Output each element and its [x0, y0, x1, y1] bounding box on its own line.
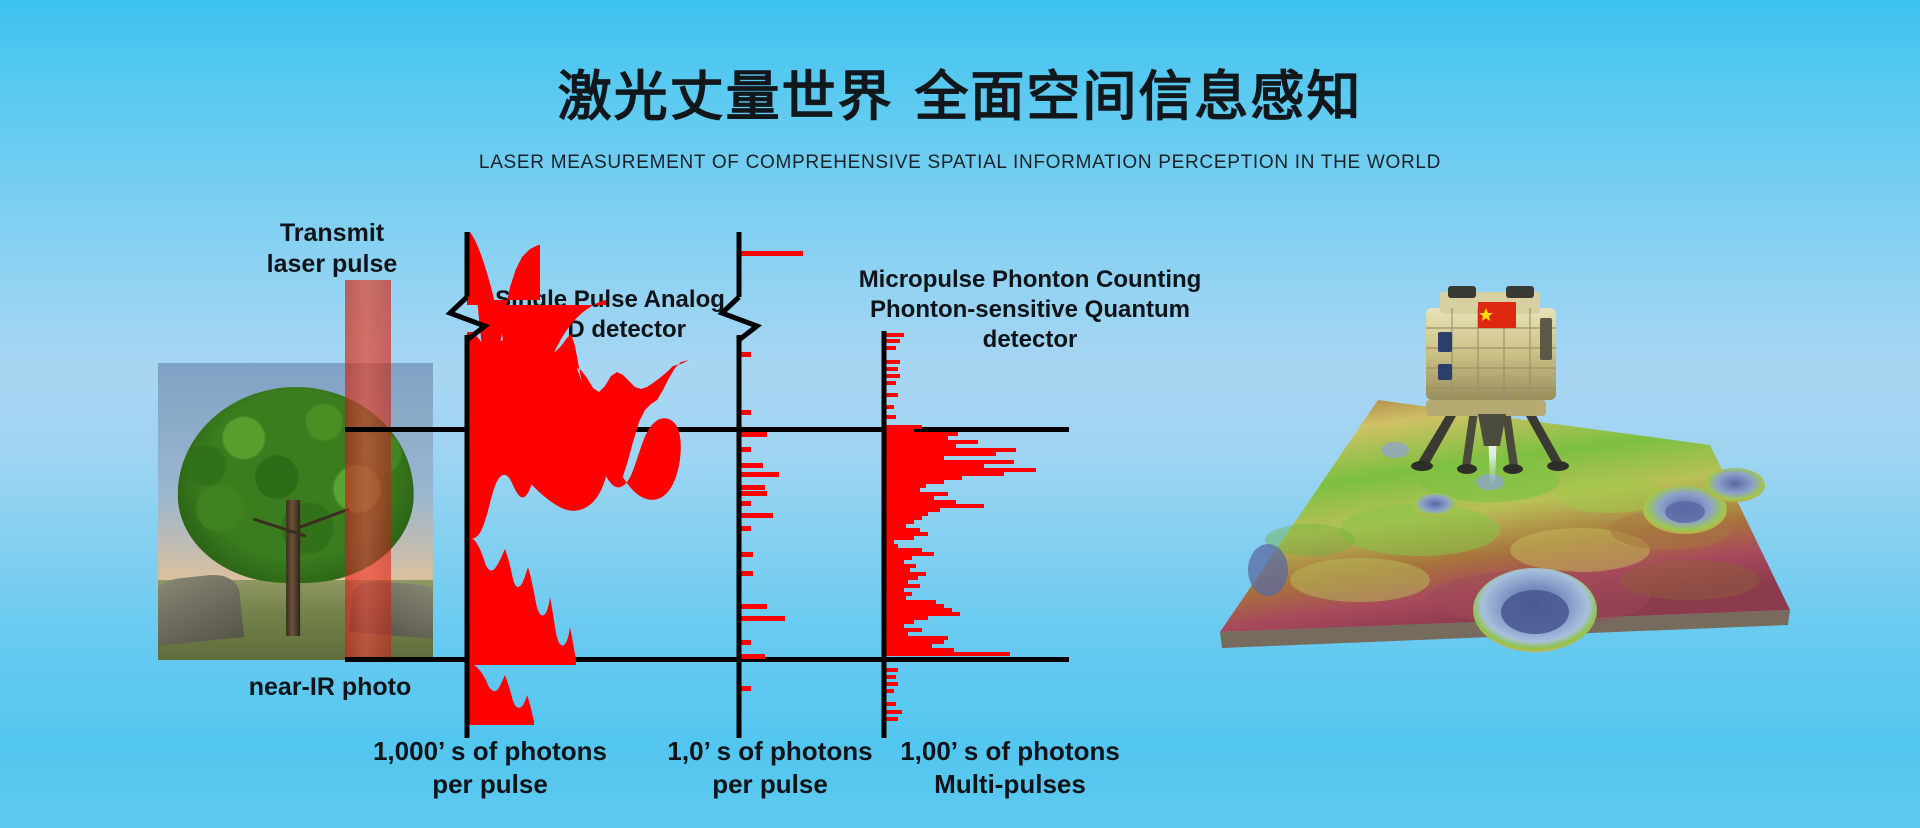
dem-crater-mid: [1413, 493, 1457, 517]
lunar-lander: [1411, 286, 1569, 474]
lunar-dem-illustration: [1190, 280, 1830, 750]
near-ir-photo-caption: near-IR photo: [200, 672, 460, 703]
sparse-axis-break-zigzag: [722, 297, 757, 340]
micropulse-photon-counting-plot: [860, 328, 1090, 746]
photo-stone-wall-left: [158, 572, 244, 647]
infographic-canvas: 激光丈量世界 全面空间信息感知 LASER MEASUREMENT OF COM…: [0, 0, 1920, 828]
transmit-laser-pulse-label: Transmit laser pulse: [232, 218, 432, 281]
laser-beam-glow: [345, 280, 391, 660]
sparse-photon-bars: [741, 251, 803, 691]
dem-crater-right-2: [1705, 468, 1765, 502]
dense-photon-bars: [886, 333, 1036, 721]
footer-label-dense: 1,00’ s of photons Multi-pulses: [860, 735, 1160, 800]
footer-label-analog: 1,000’ s of photons per pulse: [340, 735, 640, 800]
photo-tree-trunk: [286, 500, 300, 637]
dem-terrain-surface: [1220, 400, 1790, 652]
page-subtitle: LASER MEASUREMENT OF COMPREHENSIVE SPATI…: [0, 152, 1920, 174]
page-title: 激光丈量世界 全面空间信息感知: [0, 52, 1920, 131]
near-ir-photo: [158, 363, 433, 660]
single-pulse-analog-plot: [440, 225, 700, 745]
dem-crater-left-edge: [1248, 544, 1288, 596]
dem-crater-small-2: [1381, 442, 1409, 458]
